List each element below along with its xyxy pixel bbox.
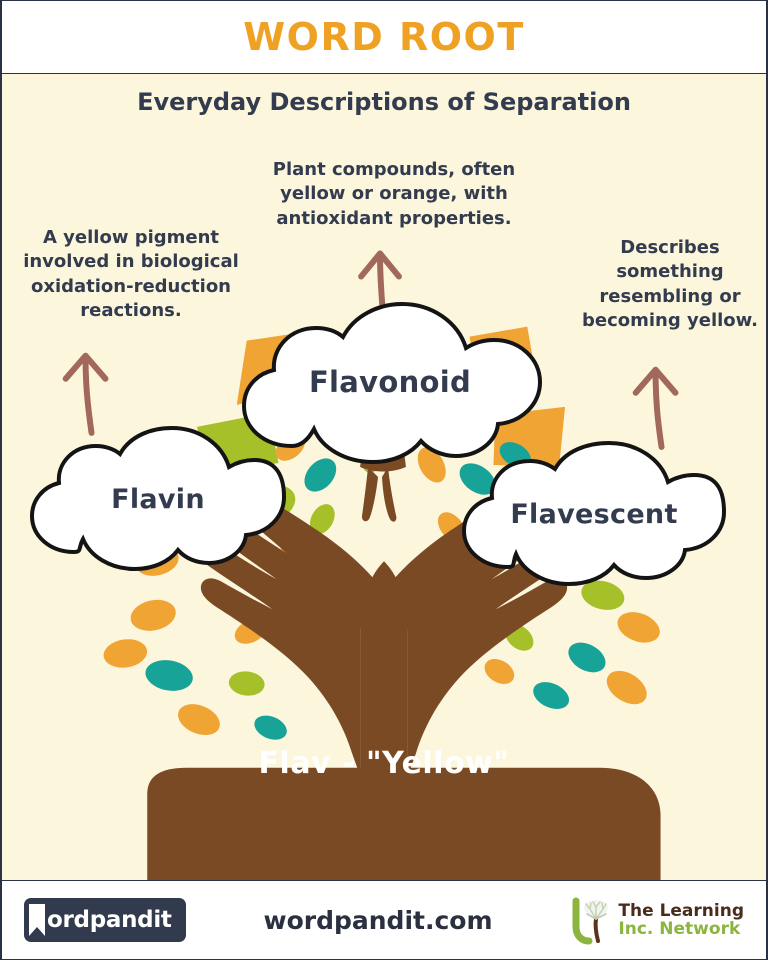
term-cloud-flavin[interactable]: Flavin [22, 424, 294, 574]
footer-website-url[interactable]: wordpandit.com [264, 906, 493, 935]
tree-u-icon [570, 895, 612, 945]
arrow-right [636, 370, 676, 447]
wordpandit-logo-text: ordpandit [47, 907, 172, 933]
poster-header: WORD ROOT [0, 0, 768, 74]
partner-logo-text: The Learning Inc. Network [618, 902, 744, 939]
partner-line2: Inc. Network [618, 920, 744, 938]
the-learning-inc-network-logo[interactable]: The Learning Inc. Network [570, 895, 744, 945]
page-title: WORD ROOT [243, 15, 525, 59]
wordpandit-logo[interactable]: ordpandit [24, 898, 186, 942]
ground-mound [147, 768, 660, 880]
partner-line1: The Learning [618, 902, 744, 920]
infographic-poster: WORD ROOT Everyday Descriptions of Separ… [0, 0, 768, 960]
arrow-left [66, 356, 106, 433]
poster-body: Everyday Descriptions of Separation A ye… [0, 74, 768, 880]
bookmark-w-icon [28, 903, 46, 937]
term-cloud-flavescent[interactable]: Flavescent [454, 439, 734, 589]
poster-footer: ordpandit wordpandit.com The Learning In… [0, 880, 768, 960]
